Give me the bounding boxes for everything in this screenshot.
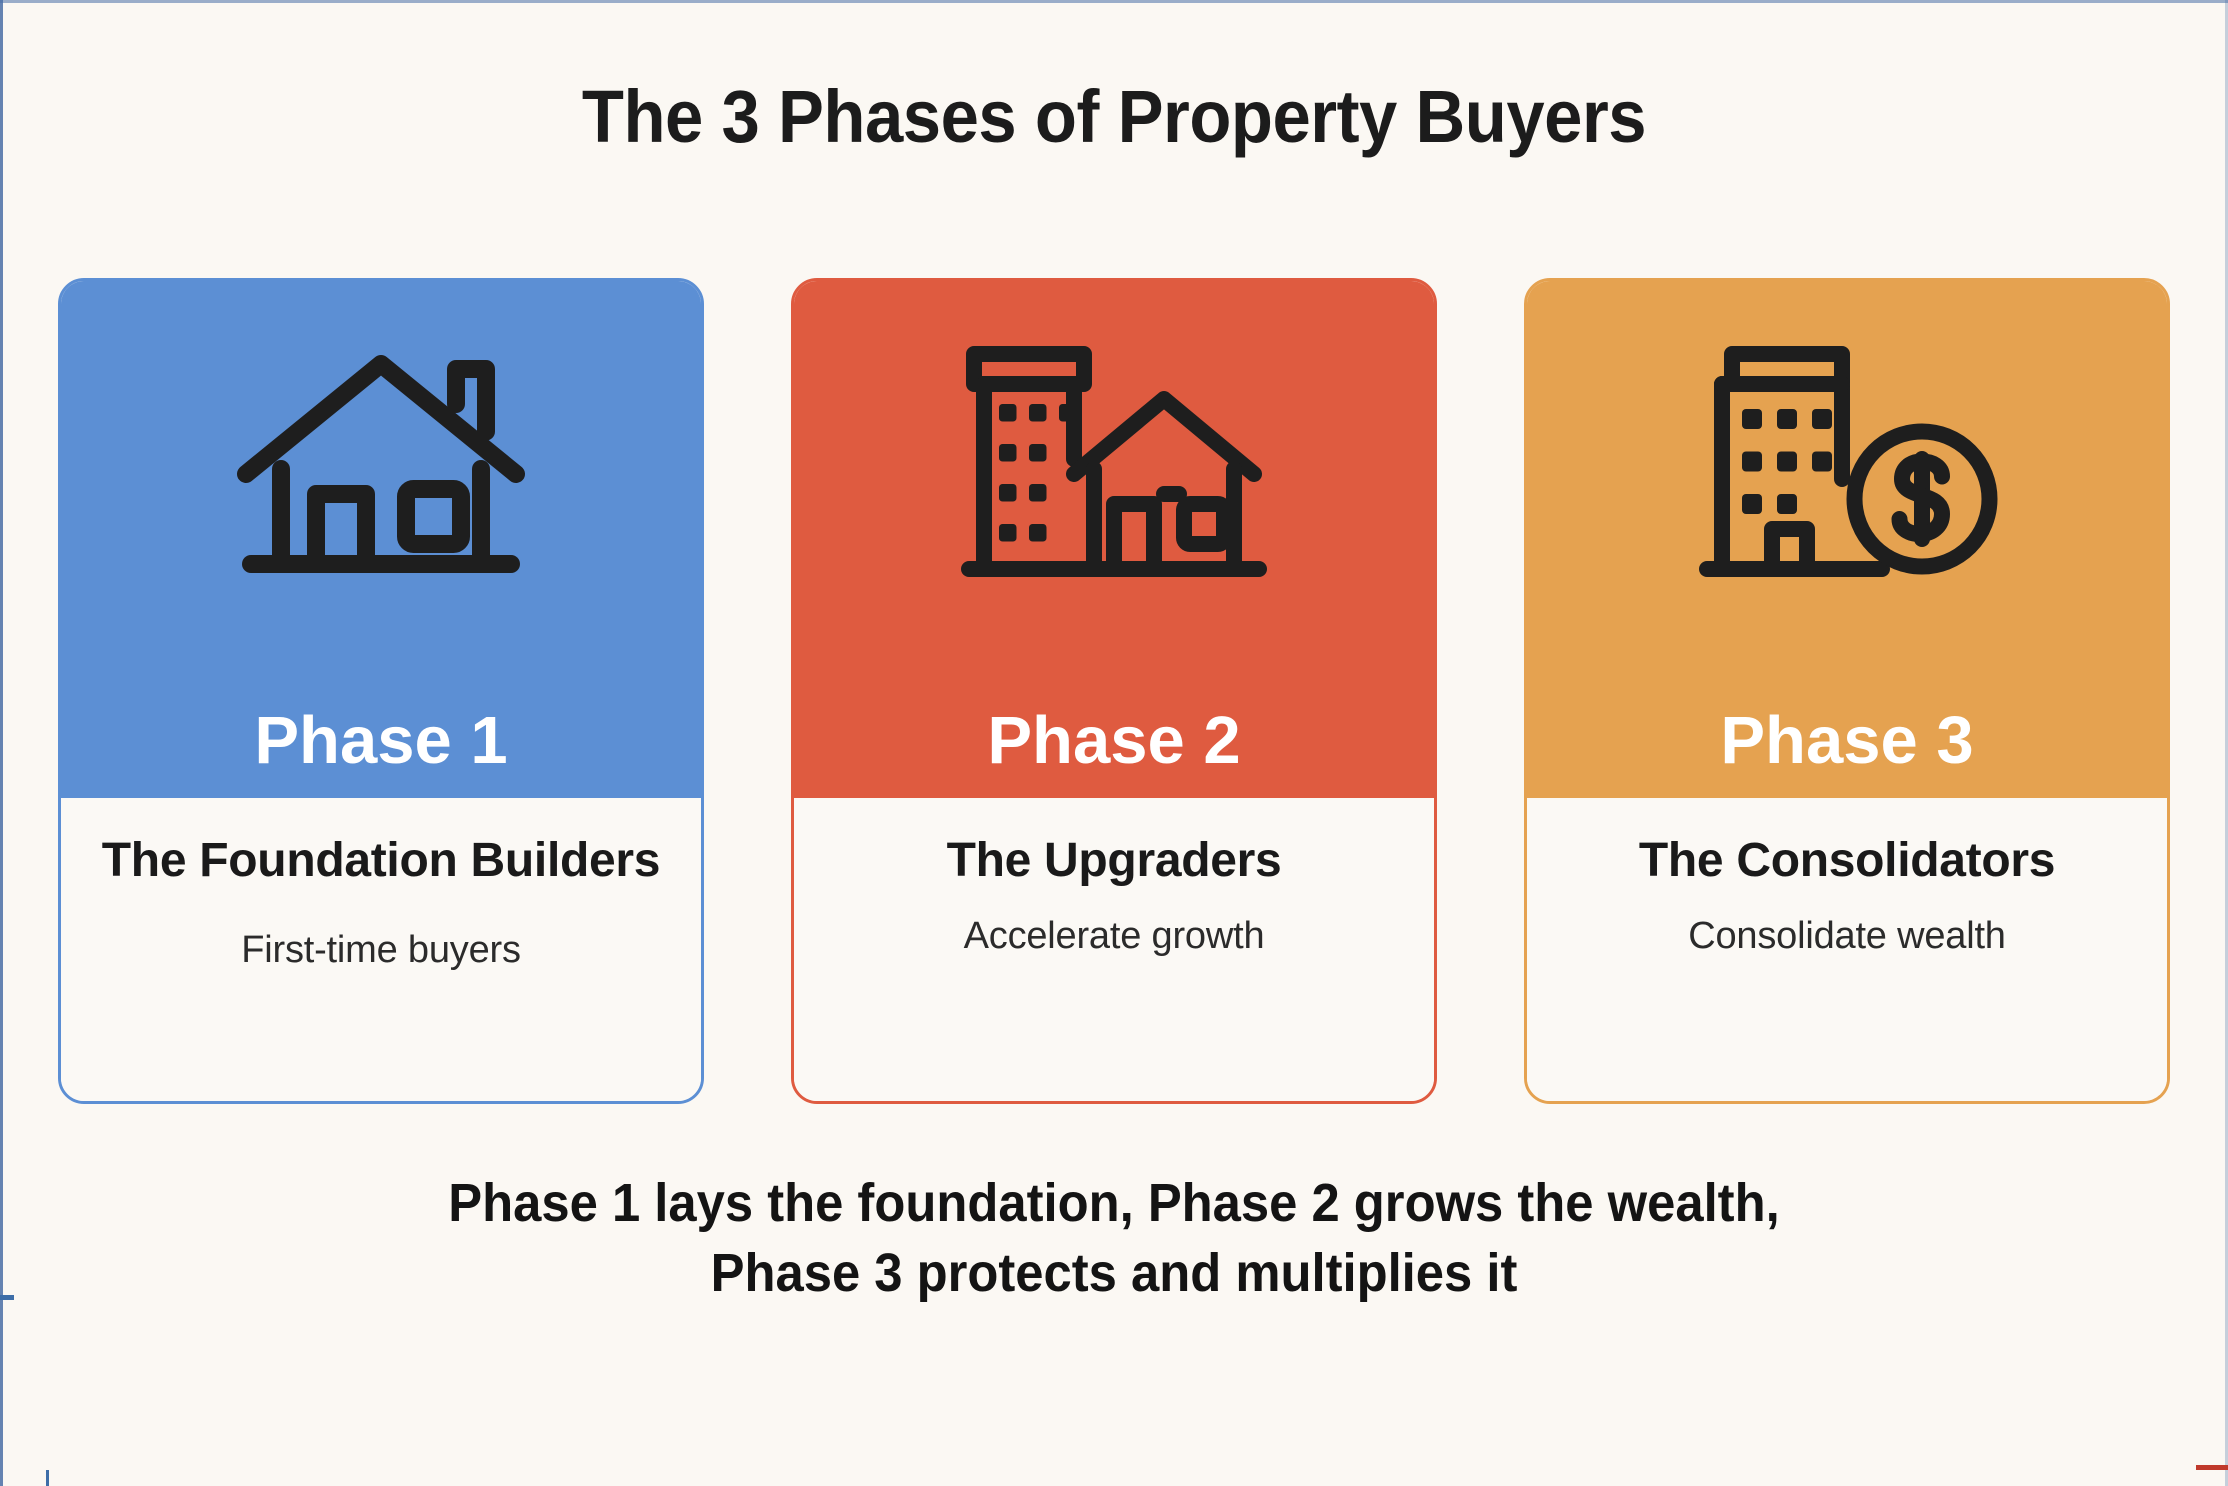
infographic-slide: The 3 Phases of Property Buyers xyxy=(0,0,2228,1486)
phase-card-row: Phase 1 The Foundation Builders First-ti… xyxy=(58,278,2170,1104)
phase-card-3-name: The Consolidators xyxy=(1639,832,2055,889)
summary-caption-line-2: Phase 3 protects and multiplies it xyxy=(67,1238,2161,1308)
phase-card-3-body: The Consolidators Consolidate wealth xyxy=(1527,798,2167,1101)
slide-border-notch xyxy=(0,1295,14,1300)
summary-caption: Phase 1 lays the foundation, Phase 2 gro… xyxy=(67,1168,2161,1308)
phase-card-3[interactable]: Phase 3 The Consolidators Consolidate we… xyxy=(1524,278,2170,1104)
summary-caption-line-1: Phase 1 lays the foundation, Phase 2 gro… xyxy=(67,1168,2161,1238)
slide-border-left xyxy=(0,0,3,1486)
building-with-dollar-coin-icon xyxy=(1687,319,2007,619)
page-title: The 3 Phases of Property Buyers xyxy=(78,74,2150,159)
slide-border-bottom-left xyxy=(46,1470,49,1486)
phase-card-2-body: The Upgraders Accelerate growth xyxy=(794,798,1434,1101)
phase-card-1-phase-label: Phase 1 xyxy=(61,707,701,774)
phase-card-2-subtitle: Accelerate growth xyxy=(964,915,1265,958)
phase-card-1-header: Phase 1 xyxy=(61,281,701,798)
phase-card-1-subtitle: First-time buyers xyxy=(241,929,521,972)
phase-card-2-header: Phase 2 xyxy=(794,281,1434,798)
slide-border-top xyxy=(0,0,2228,3)
phase-card-2[interactable]: Phase 2 The Upgraders Accelerate growth xyxy=(791,278,1437,1104)
phase-card-1-name: The Foundation Builders xyxy=(102,832,660,889)
apartment-and-house-icon xyxy=(949,319,1279,619)
phase-card-2-name: The Upgraders xyxy=(947,832,1282,889)
phase-card-3-header: Phase 3 xyxy=(1527,281,2167,798)
phase-card-1[interactable]: Phase 1 The Foundation Builders First-ti… xyxy=(58,278,704,1104)
house-icon xyxy=(226,319,536,619)
phase-card-1-body: The Foundation Builders First-time buyer… xyxy=(61,798,701,1101)
phase-card-3-subtitle: Consolidate wealth xyxy=(1688,915,2006,958)
phase-card-3-phase-label: Phase 3 xyxy=(1527,707,2167,774)
slide-border-bottom-right xyxy=(2196,1465,2228,1470)
phase-card-2-phase-label: Phase 2 xyxy=(794,707,1434,774)
